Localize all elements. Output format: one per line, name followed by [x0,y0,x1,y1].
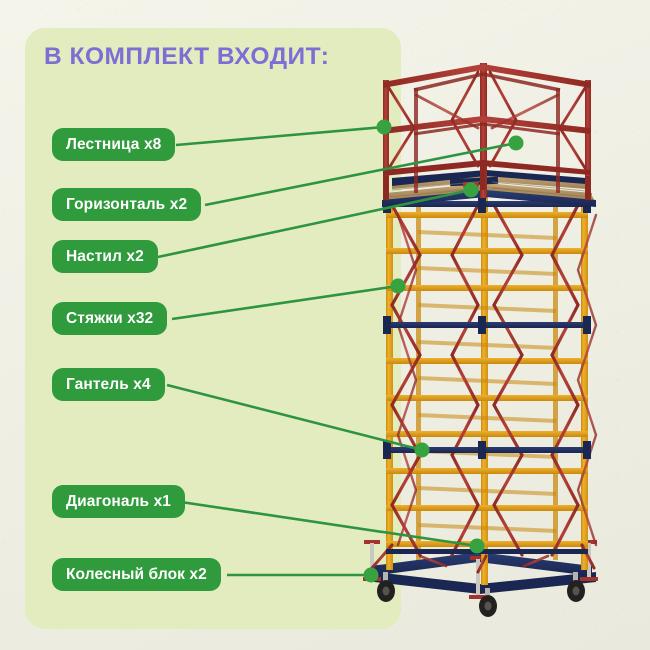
legend-chip-ladder[interactable]: Лестница х8 [52,128,175,161]
leader-dot-1 [509,136,524,151]
leader-dots [364,120,524,583]
leader-dot-5 [470,539,485,554]
leader-line-0 [176,127,384,145]
page-title: В КОМПЛЕКТ ВХОДИТ: [44,43,384,71]
leader-dot-6 [364,568,379,583]
legend-chip-diagonal[interactable]: Диагональ х1 [52,485,185,518]
leader-dot-0 [377,120,392,135]
legend-chip-horizontal[interactable]: Горизонталь х2 [52,188,201,221]
legend-chip-wheel-block[interactable]: Колесный блок х2 [52,558,221,591]
leader-dot-2 [464,183,479,198]
leader-line-3 [172,286,398,319]
legend-chip-ties[interactable]: Стяжки х32 [52,302,167,335]
leader-line-5 [181,502,477,546]
legend-chip-dumbbell[interactable]: Гантель х4 [52,368,165,401]
leader-lines [158,127,516,575]
infographic-canvas: В КОМПЛЕКТ ВХОДИТ: Лестница х8 Горизонта… [0,0,650,650]
leader-line-4 [167,385,422,450]
leader-dot-4 [415,443,430,458]
leader-dot-3 [391,279,406,294]
legend-chip-deck[interactable]: Настил х2 [52,240,158,273]
leader-line-2 [158,190,471,257]
